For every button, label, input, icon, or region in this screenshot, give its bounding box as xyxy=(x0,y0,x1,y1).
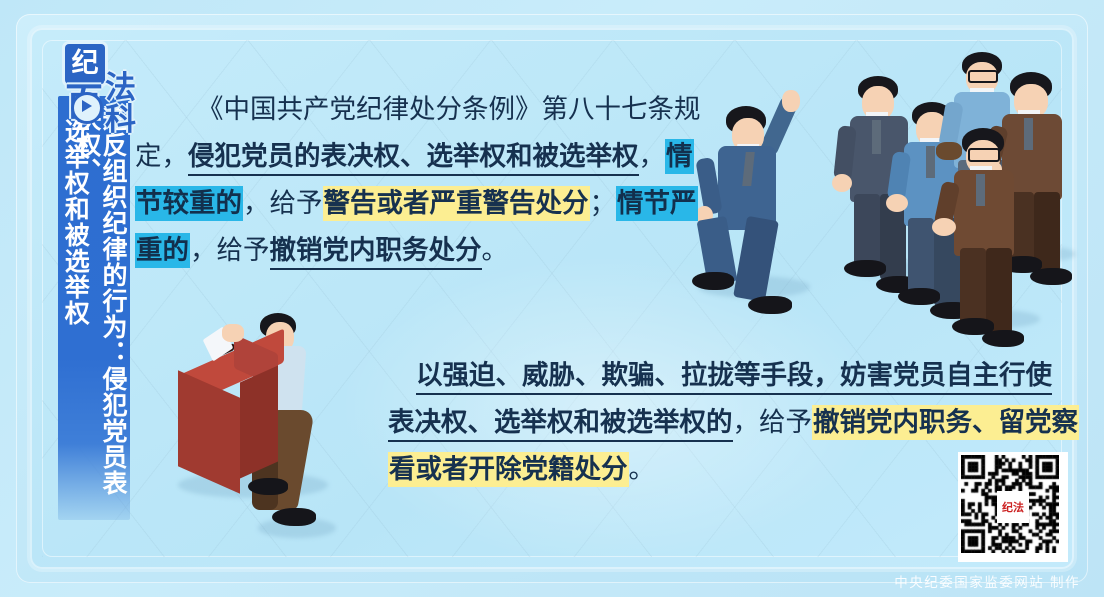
ballot-illustration xyxy=(172,300,377,562)
man-1-shoe-back xyxy=(692,272,734,290)
poster-root: 纪 百 法 科 违反组织纪律的行为：侵犯党员表决权、 选举权和被选举权 《中国共… xyxy=(0,0,1104,597)
paragraph-1-line-4: 重的，给予撤销党内职务处分。 xyxy=(135,227,695,274)
p1-l3-semicolon: ； xyxy=(590,188,617,219)
p1-l2-comma: ， xyxy=(639,141,666,172)
voter-shoe-back xyxy=(248,478,288,495)
man-5-hand-grabbing xyxy=(936,142,962,160)
group-illustration xyxy=(690,48,1102,348)
qr-code[interactable]: 纪法 xyxy=(958,452,1068,562)
man-2-tie xyxy=(872,120,881,154)
man-2-hand xyxy=(832,174,852,192)
man-3-shoe-back xyxy=(898,288,940,305)
p1-l3-highlight-cyan-2: 情节严 xyxy=(616,186,698,221)
p1-l4-underlined: 撤销党内职务处分 xyxy=(270,235,482,270)
man-4-tie xyxy=(976,174,985,206)
man-1-shoe-front xyxy=(748,296,792,314)
p1-l2-underlined: 侵犯党员的表决权、选举权和被选举权 xyxy=(188,141,639,176)
p2-l2-highlight-yellow: 撤销党内职务、留党察 xyxy=(812,405,1079,440)
paragraph-1-line-3: 节较重的，给予警告或者严重警告处分；情节严 xyxy=(135,180,695,227)
man-3-leg-back xyxy=(908,218,934,298)
p1-l3-highlight-yellow: 警告或者严重警告处分 xyxy=(323,186,590,221)
p1-l4-highlight-cyan: 重的 xyxy=(135,233,190,268)
paragraph-2-line-3: 看或者开除党籍处分。 xyxy=(388,446,1008,493)
side-banner-column-left: 选举权和被选举权 xyxy=(62,118,88,516)
play-icon xyxy=(71,92,103,124)
man-1-hand-raised xyxy=(782,90,800,112)
paragraph-2-line-2: 表决权、选举权和被选举权的，给予撤销党内职务、留党察 xyxy=(388,399,1008,446)
man-6-shoe-front xyxy=(1030,268,1072,285)
paragraph-1-line-2: 定，侵犯党员的表决权、选举权和被选举权，情 xyxy=(135,133,695,180)
voter-hand-ballot xyxy=(222,324,244,342)
p1-l2-lead: 定， xyxy=(135,141,188,172)
man-4-shoe-front xyxy=(982,330,1024,347)
footer-credit: 中央纪委国家监委网站 制作 xyxy=(894,571,1080,591)
ballot-box-side xyxy=(240,366,278,479)
p1-l3-mid: ，给予 xyxy=(243,188,323,219)
paragraph-2: 以强迫、威胁、欺骗、拉拢等手段，妨害党员自主行使 表决权、选举权和被选举权的，给… xyxy=(388,352,1008,493)
paragraph-2-line-1: 以强迫、威胁、欺骗、拉拢等手段，妨害党员自主行使 xyxy=(388,352,1008,399)
man-3-tie xyxy=(926,146,935,178)
man-6-tie xyxy=(1024,118,1033,150)
man-4-hand xyxy=(932,218,956,236)
qr-center-logo: 纪法 xyxy=(997,491,1029,523)
p1-l4-mid: ，给予 xyxy=(190,235,270,266)
man-3-hand xyxy=(886,194,908,212)
voter-shoe-front xyxy=(272,508,316,526)
p2-l1-underlined: 以强迫、威胁、欺骗、拉拢等手段，妨害党员自主行使 xyxy=(416,360,1052,395)
p1-l2-highlight-cyan: 情 xyxy=(665,139,694,174)
logo-char-ke: 科 xyxy=(105,94,136,139)
p1-l4-period: 。 xyxy=(482,235,509,266)
brand-logo: 纪 百 法 科 xyxy=(57,44,149,128)
p2-l3-highlight-yellow: 看或者开除党籍处分 xyxy=(388,452,629,487)
p1-l1-text: 《中国共产党纪律处分条例》第八十七条规 xyxy=(197,94,701,125)
glasses-icon-front xyxy=(968,148,1000,162)
side-banner: 违反组织纪律的行为：侵犯党员表决权、 选举权和被选举权 xyxy=(58,96,130,520)
p2-l3-period: 。 xyxy=(629,454,656,485)
man-2-shoe-back xyxy=(844,260,886,277)
man-2-leg-back xyxy=(854,194,880,270)
man-4-leg-back xyxy=(960,248,986,328)
ballot-box-front xyxy=(178,370,240,494)
p1-l3-highlight-cyan: 节较重的 xyxy=(135,186,243,221)
p2-l2-mid: ，给予 xyxy=(733,407,813,438)
paragraph-1-line-1: 《中国共产党纪律处分条例》第八十七条规 xyxy=(135,86,695,133)
p2-l2-underlined: 表决权、选举权和被选举权的 xyxy=(388,407,733,442)
paragraph-1: 《中国共产党纪律处分条例》第八十七条规 定，侵犯党员的表决权、选举权和被选举权，… xyxy=(135,86,695,274)
glasses-icon-back xyxy=(968,70,998,83)
